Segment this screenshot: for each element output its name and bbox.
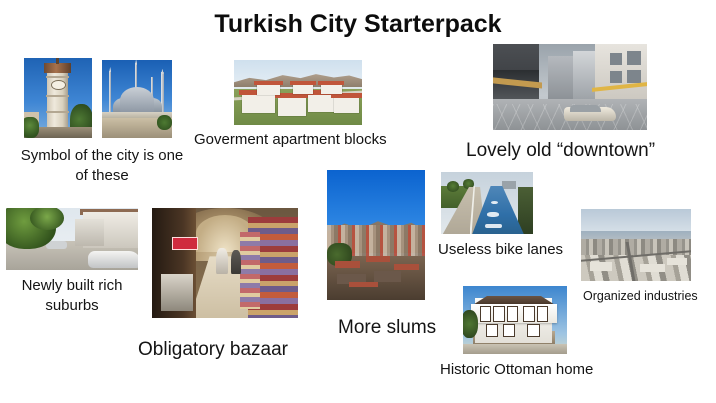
caption-line: Symbol of the city is one xyxy=(2,146,202,166)
apartment-blocks-art xyxy=(234,60,362,125)
caption-more-slums: More slums xyxy=(338,315,478,341)
photo-clock-tower xyxy=(24,58,92,138)
caption-city-symbol: Symbol of the city is one of these xyxy=(2,146,202,187)
mosque-art xyxy=(102,60,172,138)
caption-government-apartments: Goverment apartment blocks xyxy=(194,130,434,150)
bike-pictogram xyxy=(485,224,502,228)
caption-bazaar: Obligatory bazaar xyxy=(138,337,338,363)
caption-line: suburbs xyxy=(2,296,142,316)
caption-organized-industries: Organized industries xyxy=(583,288,716,305)
covered-bazaar-art xyxy=(152,208,298,318)
ottoman-house-art xyxy=(463,286,567,354)
suburb-street-art xyxy=(6,208,138,270)
caption-old-downtown: Lovely old “downtown” xyxy=(466,138,716,164)
hillside-slums-art xyxy=(327,170,425,300)
photo-apartment-blocks xyxy=(234,60,362,125)
bike-pictogram xyxy=(487,212,499,217)
photo-covered-bazaar xyxy=(152,208,298,318)
blue-bike-lane-art xyxy=(441,172,533,234)
clock-tower-art xyxy=(24,58,92,138)
photo-downtown-street xyxy=(493,44,647,130)
bike-pictogram xyxy=(491,201,498,204)
caption-ottoman-home: Historic Ottoman home xyxy=(440,360,640,380)
industrial-zone-art xyxy=(581,209,691,281)
caption-rich-suburbs: Newly built rich suburbs xyxy=(2,276,142,317)
photo-mosque xyxy=(102,60,172,138)
caption-line: Newly built rich xyxy=(2,276,142,296)
photo-blue-bike-lane xyxy=(441,172,533,234)
photo-ottoman-house xyxy=(463,286,567,354)
photo-industrial-zone xyxy=(581,209,691,281)
page-title: Turkish City Starterpack xyxy=(0,10,716,39)
caption-bike-lanes: Useless bike lanes xyxy=(438,240,598,260)
downtown-street-art xyxy=(493,44,647,130)
starterpack-canvas: Turkish City Starterpack xyxy=(0,0,716,403)
photo-suburb-street xyxy=(6,208,138,270)
caption-line: of these xyxy=(2,166,202,186)
photo-hillside-slums xyxy=(327,170,425,300)
